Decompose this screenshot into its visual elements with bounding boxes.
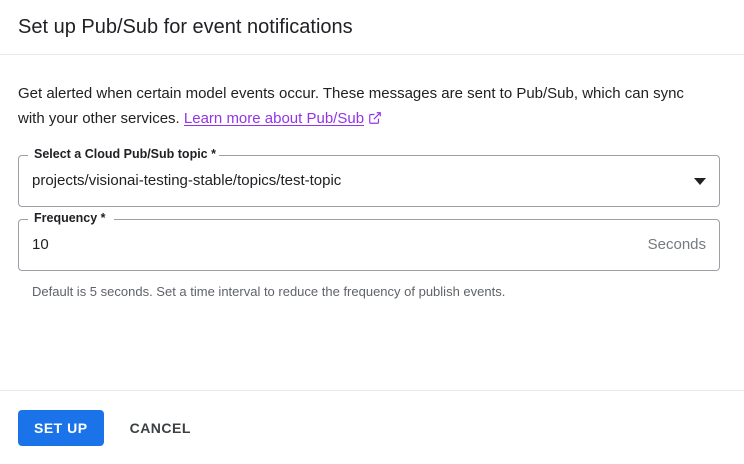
page-title: Set up Pub/Sub for event notifications (18, 14, 353, 40)
frequency-unit-suffix: Seconds (648, 235, 706, 255)
frequency-input[interactable]: 10 (32, 235, 636, 255)
pubsub-topic-field[interactable]: Select a Cloud Pub/Sub topic * projects/… (18, 155, 720, 207)
frequency-field[interactable]: Frequency * 10 Seconds (18, 219, 720, 271)
dialog-header: Set up Pub/Sub for event notifications (0, 0, 744, 55)
pubsub-topic-value[interactable]: projects/visionai-testing-stable/topics/… (32, 171, 684, 191)
frequency-hint: Default is 5 seconds. Set a time interva… (32, 283, 726, 301)
learn-more-link[interactable]: Learn more about Pub/Sub (184, 110, 364, 127)
field-content: 10 Seconds (18, 219, 720, 271)
learn-more-link-label: Learn more about Pub/Sub (184, 110, 364, 127)
field-content: projects/visionai-testing-stable/topics/… (18, 155, 720, 207)
dropdown-arrow-icon[interactable] (694, 178, 706, 185)
cancel-button[interactable]: CANCEL (118, 410, 203, 446)
dialog-description: Get alerted when certain model events oc… (18, 81, 708, 131)
set-up-button[interactable]: SET UP (18, 410, 104, 446)
pubsub-setup-dialog: Set up Pub/Sub for event notifications G… (0, 0, 744, 464)
dialog-body: Get alerted when certain model events oc… (0, 55, 744, 390)
dialog-footer: SET UP CANCEL (0, 390, 744, 464)
open-in-new-icon[interactable] (368, 111, 382, 125)
